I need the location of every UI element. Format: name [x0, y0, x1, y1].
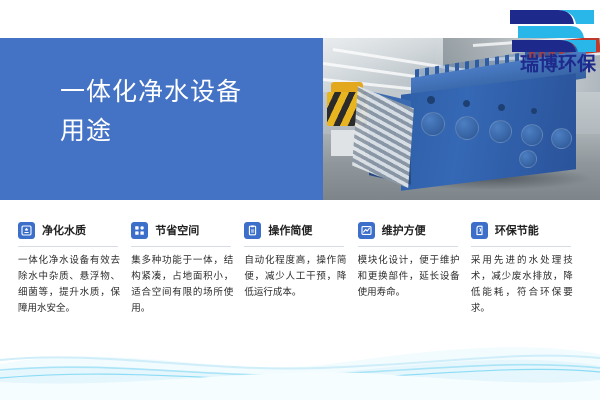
space-saving-icon — [131, 222, 148, 239]
feature-card-header: 操作简便 — [244, 219, 347, 241]
photo-tank-nozzle — [427, 96, 435, 104]
feature-card-divider — [18, 246, 118, 247]
photo-tank-port — [521, 124, 543, 146]
feature-card-body: 采用先进的水处理技术，减少废水排放，降低能耗，符合环保要求。 — [471, 253, 573, 317]
hero-title-line-1: 一体化净水设备 — [60, 72, 320, 111]
feature-card-header: 节省空间 — [131, 219, 234, 241]
eco-energy-saving-icon — [471, 222, 488, 239]
feature-card-divider — [471, 246, 571, 247]
hero-title-line-2: 用途 — [60, 111, 320, 150]
feature-card-divider — [131, 246, 231, 247]
photo-tank-port — [455, 116, 479, 140]
feature-card-title: 操作简便 — [268, 222, 312, 238]
feature-card-divider — [244, 246, 344, 247]
feature-card-header: 净化水质 — [18, 219, 121, 241]
photo-tank-port — [489, 120, 512, 143]
easy-operation-icon — [244, 222, 261, 239]
bottom-wave-decoration — [0, 320, 600, 400]
feature-card-header: 维护方便 — [358, 219, 461, 241]
feature-card-body: 一体化净水设备有效去除水中杂质、悬浮物、细菌等，提升水质，保障用水安全。 — [18, 253, 120, 317]
photo-tank-nozzle — [498, 104, 505, 111]
chevron-wave-logo-icon — [508, 8, 596, 52]
feature-card-header: 环保节能 — [471, 219, 574, 241]
feature-card-body: 模块化设计，便于维护和更换部件，延长设备使用寿命。 — [358, 253, 460, 301]
feature-card-title: 环保节能 — [495, 222, 539, 238]
feature-card-title: 节省空间 — [155, 222, 199, 238]
feature-card-body: 集多种功能于一体，结构紧凑，占地面积小，适合空间有限的场所使用。 — [131, 253, 233, 317]
photo-tank-port — [551, 128, 572, 149]
photo-tank-nozzle — [531, 108, 537, 114]
brand-logo-text: 瑞博环保 — [500, 52, 596, 76]
photo-tank-port — [421, 112, 445, 136]
feature-card-divider — [358, 246, 458, 247]
page-title: 一体化净水设备 用途 — [60, 72, 320, 150]
brand-logo: 瑞博环保 — [500, 4, 596, 86]
photo-tank-port — [519, 150, 537, 168]
feature-card-body: 自动化程度高，操作简便，减少人工干预，降低运行成本。 — [244, 253, 346, 301]
photo-tank-nozzle — [463, 100, 470, 107]
feature-card-title: 维护方便 — [382, 222, 426, 238]
water-quality-icon — [18, 222, 35, 239]
easy-maintenance-icon — [358, 222, 375, 239]
feature-card-title: 净化水质 — [42, 222, 86, 238]
